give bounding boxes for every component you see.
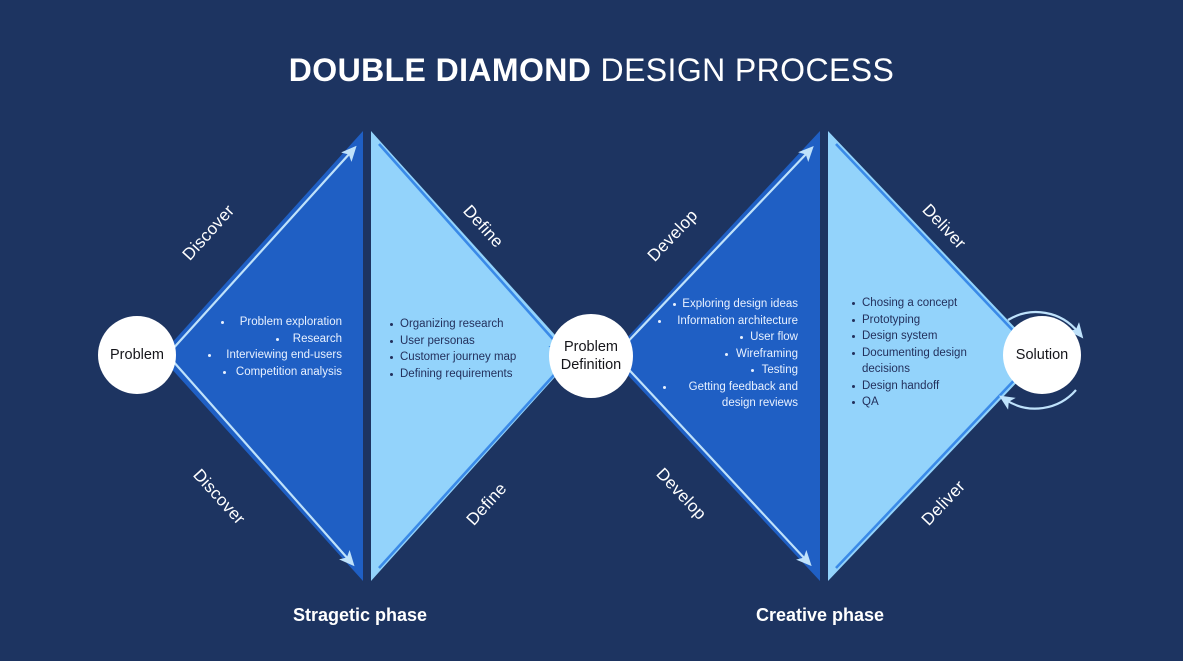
phase-label-strategic: Stragetic phase [205, 605, 515, 626]
list-item: Competition analysis [192, 364, 342, 381]
list-item: Design handoff [851, 378, 986, 395]
node-problem-label: Problem [110, 346, 164, 364]
develop-item-list: Exploring design ideas Information archi… [648, 296, 798, 412]
list-item-label: User personas [400, 335, 475, 347]
deliver-item-list: Chosing a concept Prototyping Design sys… [851, 295, 986, 411]
bullet-dot [208, 354, 211, 357]
list-item: Wireframing [648, 346, 798, 363]
list-item-label: Research [293, 333, 342, 345]
list-item: Organizing research [389, 316, 534, 333]
bullet-dot [276, 338, 279, 341]
bullet-dot [852, 335, 855, 338]
bullet-dot [223, 371, 226, 374]
list-item: Design system [851, 328, 986, 345]
bullet-dot [852, 319, 855, 322]
list-item-label: Documenting design decisions [862, 347, 967, 376]
define-item-list: Organizing research User personas Custom… [389, 316, 534, 382]
bullet-dot [663, 386, 666, 389]
list-item-label: Prototyping [862, 314, 920, 326]
bullet-dot [852, 352, 855, 355]
bullet-dot [390, 340, 393, 343]
list-item-label: Design system [862, 330, 937, 342]
node-problem-definition-label: Problem Definition [561, 338, 621, 374]
list-item-label: Getting feedback and design reviews [689, 381, 798, 410]
node-solution[interactable]: Solution [1003, 316, 1081, 394]
list-item-label: Exploring design ideas [682, 298, 798, 310]
node-solution-label: Solution [1016, 346, 1068, 364]
list-item: Customer journey map [389, 349, 534, 366]
list-item: User personas [389, 333, 534, 350]
list-item-label: Interviewing end-users [226, 349, 342, 361]
list-item-label: User flow [750, 331, 798, 343]
list-item-label: Competition analysis [236, 366, 342, 378]
list-item-label: Organizing research [400, 318, 504, 330]
list-item: Interviewing end-users [192, 347, 342, 364]
list-item: Exploring design ideas [648, 296, 798, 313]
list-item-label: Problem exploration [240, 316, 342, 328]
list-item: Chosing a concept [851, 295, 986, 312]
discover-item-list: Problem exploration Research Interviewin… [192, 314, 342, 380]
bullet-dot [390, 356, 393, 359]
list-item: QA [851, 394, 986, 411]
list-item: Documenting design decisions [851, 345, 986, 378]
list-item-label: QA [862, 396, 879, 408]
list-item: Testing [648, 362, 798, 379]
list-item-label: Defining requirements [400, 368, 513, 380]
bullet-dot [852, 385, 855, 388]
list-item: Research [192, 331, 342, 348]
list-item: User flow [648, 329, 798, 346]
bullet-dot [390, 323, 393, 326]
bullet-dot [658, 320, 661, 323]
bullet-dot [221, 321, 224, 324]
list-item-label: Chosing a concept [862, 297, 957, 309]
node-label-line1: Problem [564, 339, 618, 355]
list-item: Defining requirements [389, 366, 534, 383]
node-problem[interactable]: Problem [98, 316, 176, 394]
list-item-label: Design handoff [862, 380, 939, 392]
list-item-label: Testing [762, 364, 798, 376]
list-item: Information architecture [648, 313, 798, 330]
bullet-dot [725, 353, 728, 356]
list-item-label: Information architecture [677, 315, 798, 327]
bullet-dot [390, 373, 393, 376]
phase-label-creative: Creative phase [665, 605, 975, 626]
node-label-line2: Definition [561, 357, 621, 373]
bullet-dot [852, 302, 855, 305]
list-item: Prototyping [851, 312, 986, 329]
bullet-dot [673, 303, 676, 306]
list-item-label: Wireframing [736, 348, 798, 360]
list-item-label: Customer journey map [400, 351, 516, 363]
bullet-dot [751, 369, 754, 372]
diagram-canvas: DOUBLE DIAMOND DESIGN PROCESS [0, 0, 1183, 661]
bullet-dot [852, 401, 855, 404]
list-item: Problem exploration [192, 314, 342, 331]
node-problem-definition[interactable]: Problem Definition [549, 314, 633, 398]
list-item: Getting feedback and design reviews [648, 379, 798, 412]
bullet-dot [740, 336, 743, 339]
